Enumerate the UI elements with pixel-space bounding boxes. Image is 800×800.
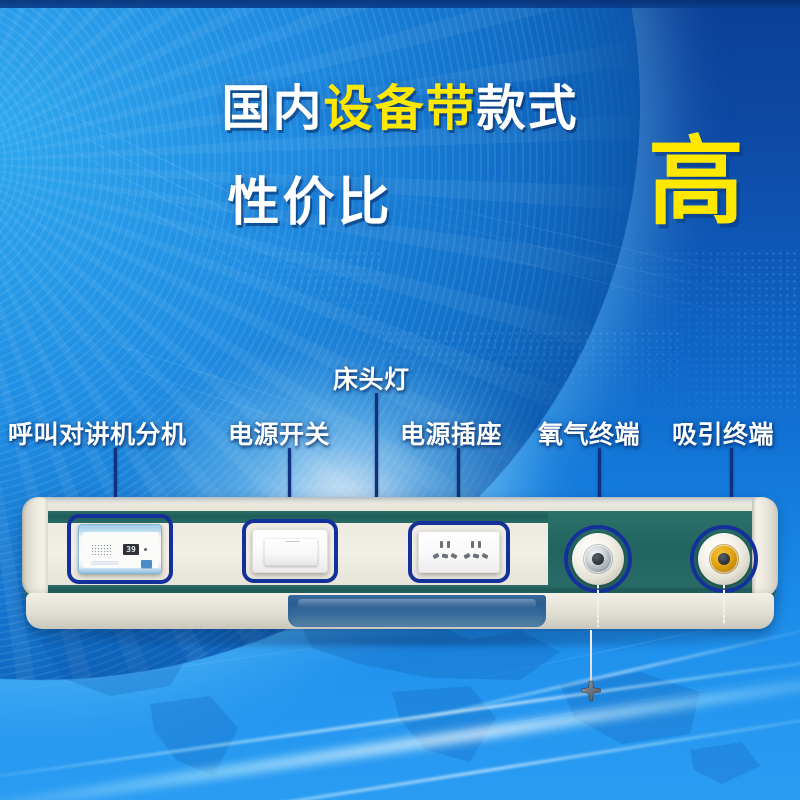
socket-pin-icon: [442, 553, 449, 558]
status-led-icon: [144, 548, 147, 551]
power-socket[interactable]: [418, 531, 500, 573]
promo-banner: 国内设备带款式 性价比 高 呼叫对讲机分机 电源开关 床头灯 电源插座 氧气终端…: [0, 0, 800, 800]
suction-terminal-inner: [709, 544, 739, 574]
socket-pin-icon: [463, 553, 470, 559]
intercom-faceplate: 39: [83, 532, 159, 568]
callout-label-power-switch: 电源开关: [228, 415, 330, 451]
speaker-grille-icon: [91, 544, 113, 557]
device-end-cap-right: [752, 497, 778, 597]
socket-pin-icon: [471, 541, 474, 548]
socket-pin-icon: [440, 541, 443, 548]
socket-pin-icon: [478, 541, 481, 548]
intercom-label-strip: [91, 561, 119, 565]
device-bottom-rail: [26, 593, 774, 629]
intercom-call-button[interactable]: [141, 560, 152, 568]
socket-pin-icon: [473, 553, 480, 558]
nurse-call-intercom-extension[interactable]: 39: [78, 524, 162, 574]
power-switch[interactable]: [252, 529, 328, 573]
headline-big-word: 高: [648, 135, 744, 231]
callout-label-power-socket: 电源插座: [400, 415, 502, 451]
intercom-display: 39: [123, 544, 139, 555]
socket-outlet-2[interactable]: [461, 541, 491, 565]
socket-pin-icon: [450, 553, 457, 559]
oxygen-terminal-cord: [597, 585, 599, 627]
socket-outlet-1[interactable]: [430, 541, 460, 565]
oxygen-terminal-inner: [583, 544, 613, 574]
suction-terminal[interactable]: [698, 533, 750, 585]
socket-pin-icon: [447, 541, 450, 548]
callout-label-intercom: 呼叫对讲机分机: [8, 415, 187, 451]
socket-pin-icon: [432, 553, 439, 559]
device-end-cap-left: [22, 497, 48, 597]
bed-head-lamp[interactable]: [288, 595, 546, 627]
oxygen-terminal[interactable]: [572, 533, 624, 585]
pull-cord-weight[interactable]: [580, 680, 602, 702]
oxygen-terminal-port: [592, 553, 604, 565]
suction-terminal-cord: [723, 585, 725, 625]
callout-label-oxygen: 氧气终端: [538, 415, 640, 451]
suction-terminal-port: [718, 553, 730, 565]
callout-label-suction: 吸引终端: [672, 415, 774, 451]
power-switch-rocker[interactable]: [264, 538, 318, 566]
callout-label-bed-lamp: 床头灯: [333, 360, 410, 396]
socket-pin-icon: [481, 553, 488, 559]
